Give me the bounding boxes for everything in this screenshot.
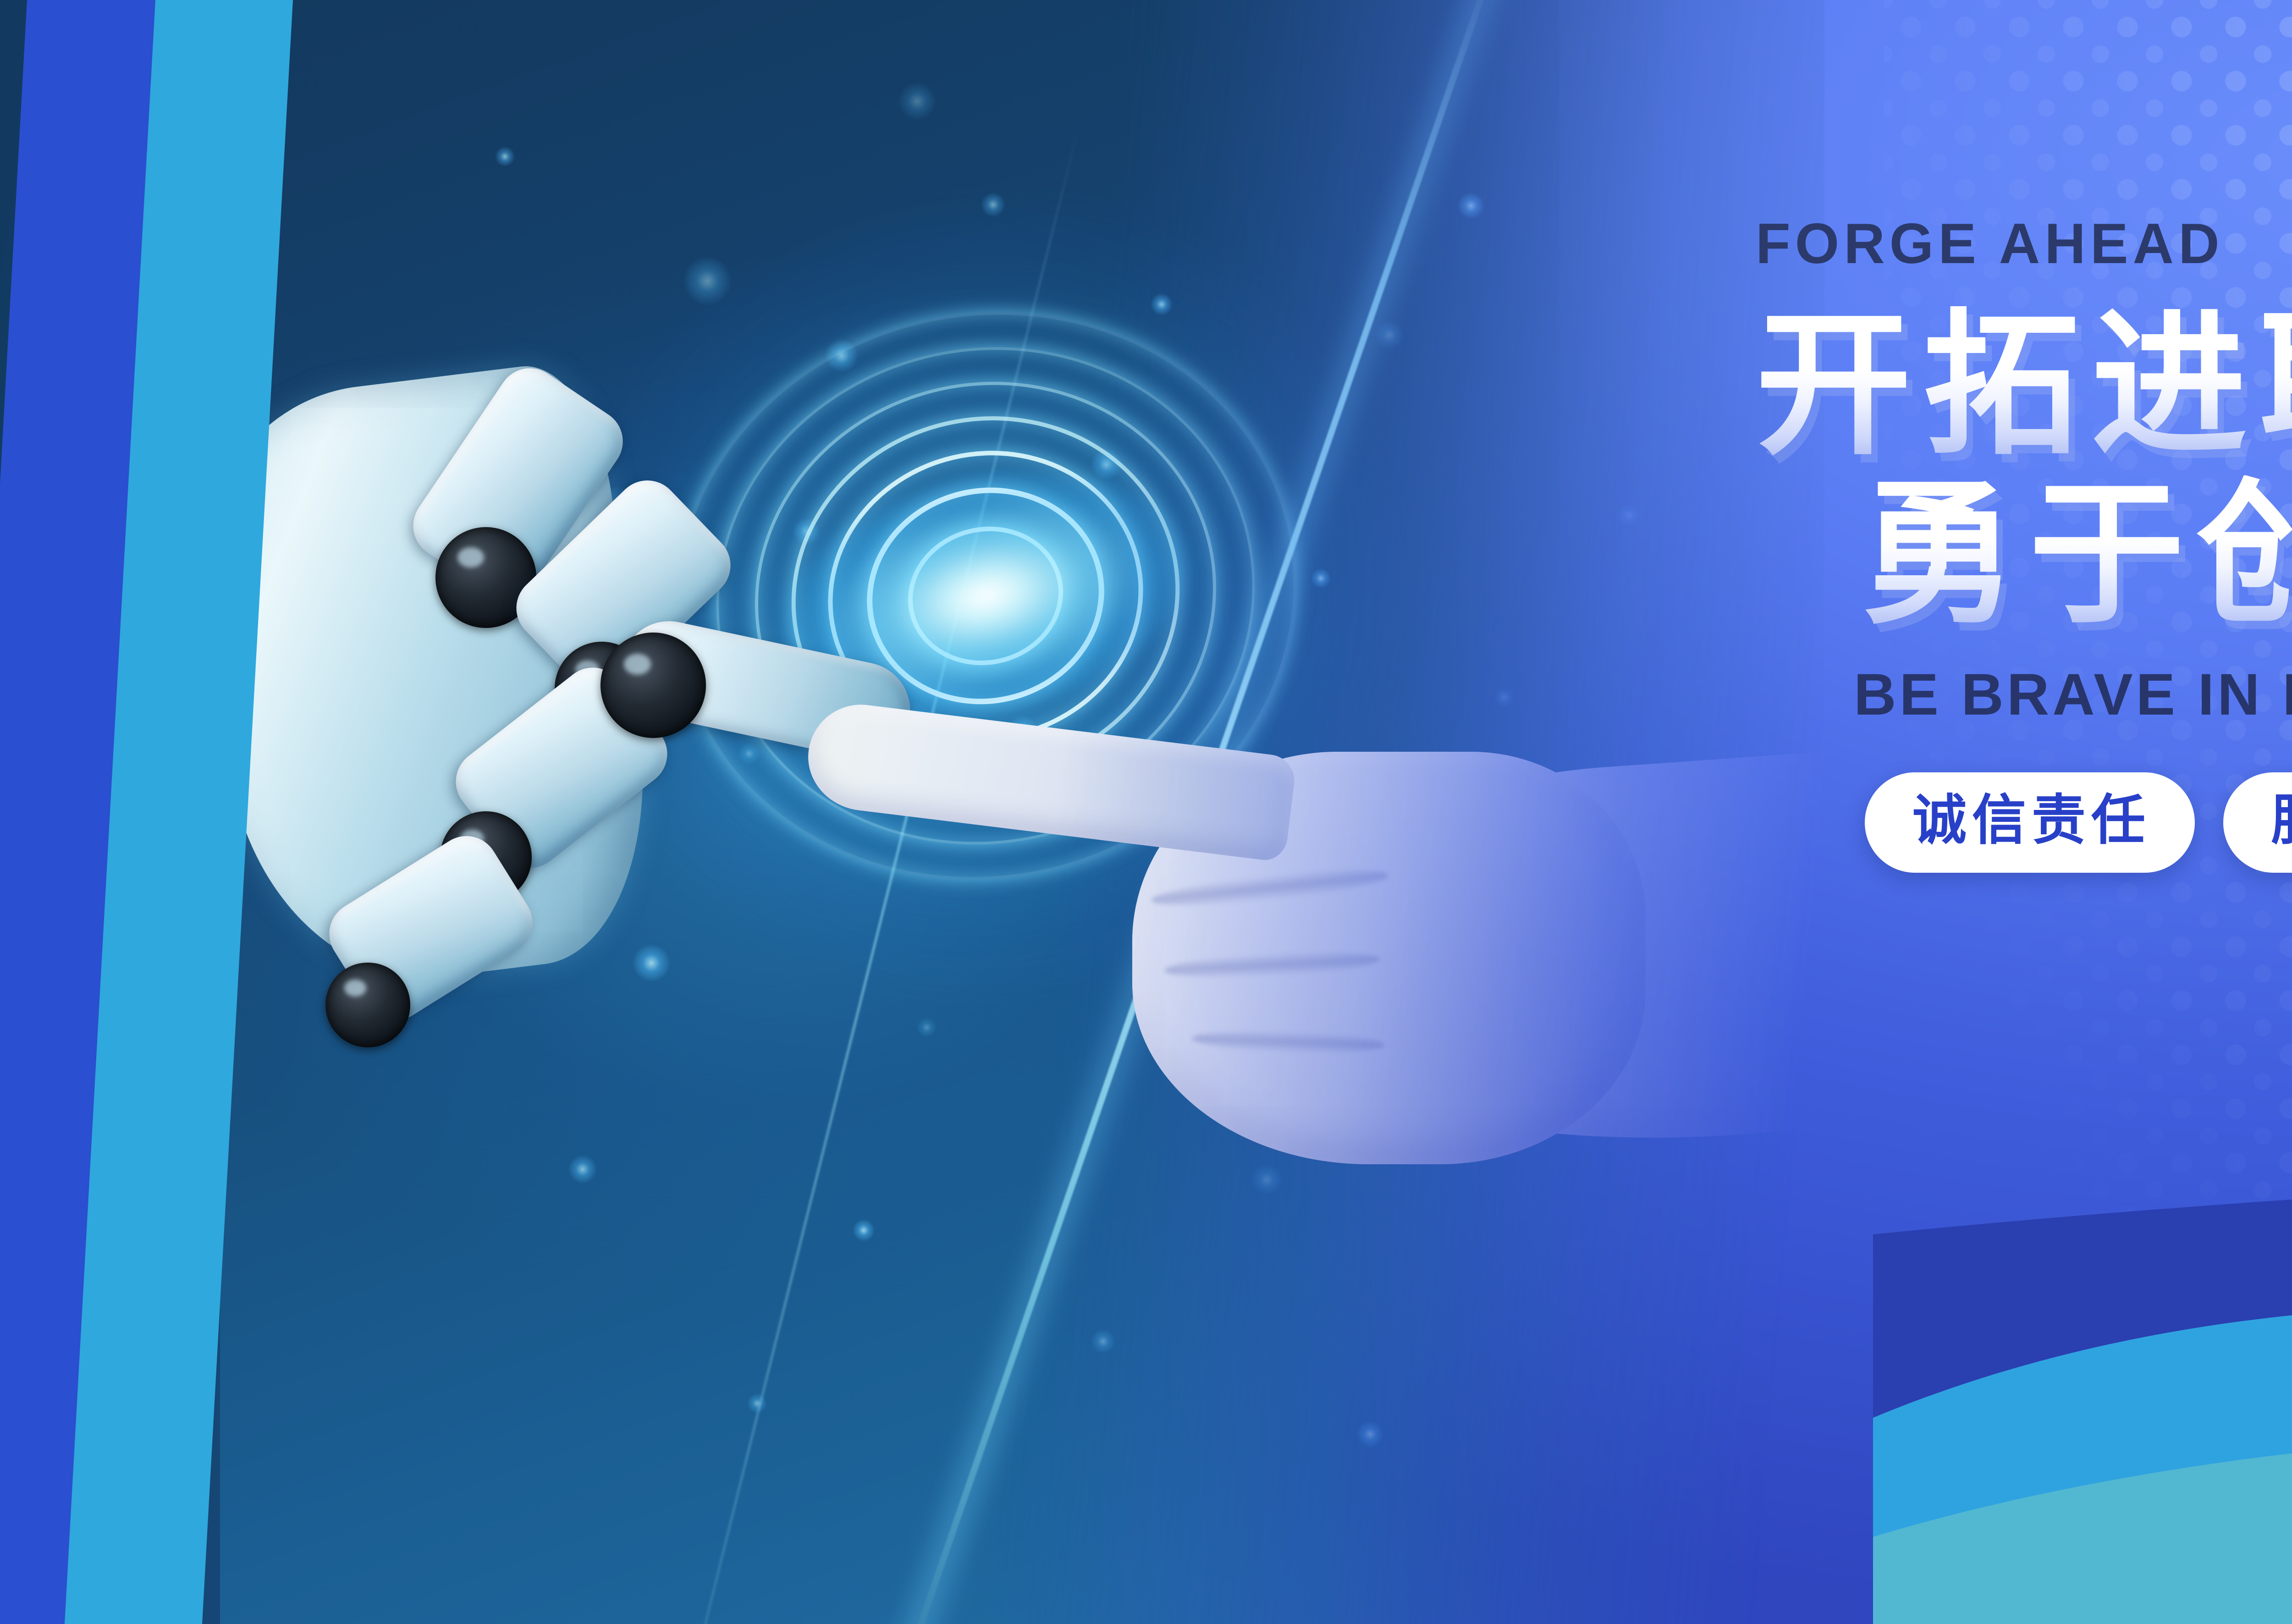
bokeh-particle bbox=[898, 83, 936, 120]
wave-shapes-svg bbox=[1873, 1097, 2292, 1624]
kicker-text: FORGE AHEAD bbox=[1756, 215, 2292, 272]
bokeh-particle bbox=[1458, 193, 1484, 219]
bokeh-particle bbox=[1357, 1421, 1383, 1448]
bokeh-particle bbox=[1091, 1329, 1115, 1354]
robot-index-knuckle bbox=[601, 633, 706, 738]
slogan-pill-integrity[interactable]: 诚信责任 bbox=[1865, 772, 2195, 873]
bokeh-particle bbox=[683, 257, 732, 305]
subline-text: BE BRAVE IN INNOVATION bbox=[1854, 661, 2292, 728]
promotional-banner: FORGE AHEAD 开拓进取 勇于创励 BE BRAVE IN INNOVA… bbox=[0, 0, 2292, 1624]
headline-line-1: 开拓进取 bbox=[1756, 306, 2292, 465]
bokeh-particle bbox=[853, 1219, 875, 1241]
human-hand bbox=[1054, 678, 1824, 1274]
headline: 开拓进取 勇于创励 bbox=[1756, 306, 2292, 634]
headline-line-2: 勇于创励 bbox=[1861, 475, 2292, 634]
bokeh-particle bbox=[1618, 504, 1640, 526]
slogan-pill-service[interactable]: 服务至上 bbox=[2223, 772, 2292, 873]
technology-scene-photo bbox=[220, 0, 1824, 1624]
banner-text-block: FORGE AHEAD 开拓进取 勇于创励 BE BRAVE IN INNOVA… bbox=[1756, 215, 2292, 873]
bottom-wave-decoration bbox=[1873, 1097, 2292, 1624]
slogan-pill-group: 诚信责任 服务至上 bbox=[1865, 772, 2292, 873]
robot-knuckle-4 bbox=[325, 963, 410, 1047]
